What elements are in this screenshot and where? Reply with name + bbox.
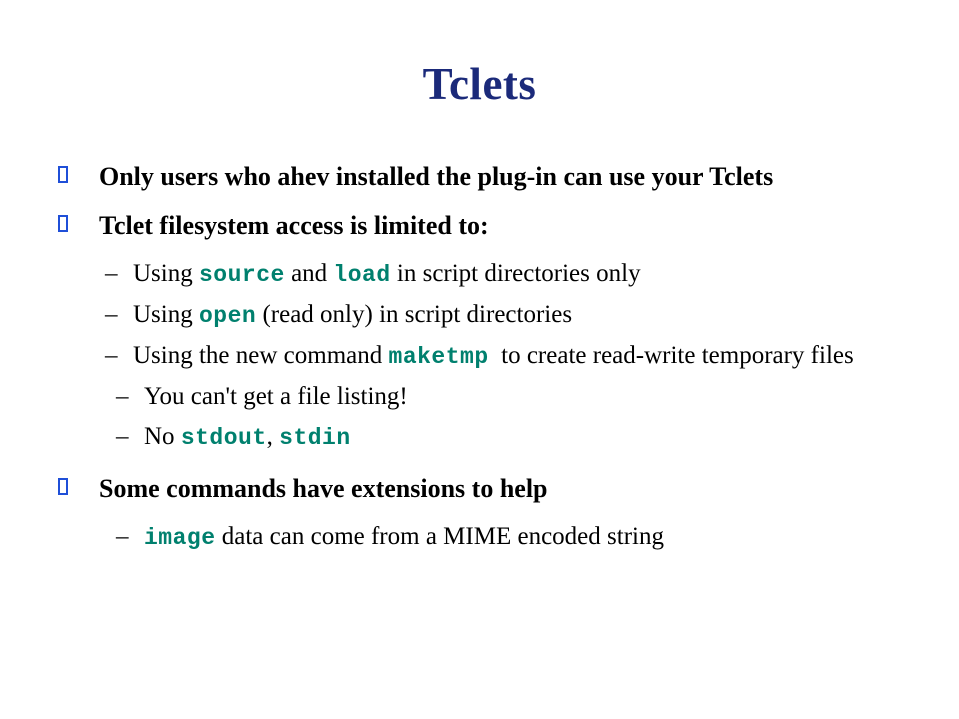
list-item: Tclet filesystem access is limited to: <box>58 207 928 244</box>
dash-icon: – <box>116 419 144 455</box>
text-run: No <box>144 423 181 450</box>
bullet-box-icon <box>58 158 99 188</box>
text-run: in script directories only <box>391 260 641 287</box>
code-token-stdin: stdin <box>279 425 351 451</box>
list-item: – Using open (read only) in script direc… <box>105 297 928 334</box>
code-token-load: load <box>333 262 390 288</box>
code-token-image: image <box>144 525 216 551</box>
list-item: – You can't get a file listing! <box>116 379 928 415</box>
text-run: to create read-write temporary files <box>495 342 854 369</box>
text-run: and <box>285 260 334 287</box>
dash-icon: – <box>105 338 133 374</box>
bullet-text: Some commands have extensions to help <box>99 470 928 507</box>
text-run: data can come from a MIME encoded string <box>216 523 664 550</box>
list-item: Only users who ahev installed the plug-i… <box>58 158 928 195</box>
text-run: , <box>267 423 280 450</box>
dash-icon: – <box>116 379 144 415</box>
bullet-text: Tclet filesystem access is limited to: <box>99 207 928 244</box>
text-run: You can't get a file listing! <box>144 383 408 410</box>
bullet-box-icon <box>58 207 99 237</box>
list-item: – Using source and load in script direct… <box>105 256 928 293</box>
sub-bullet-text: You can't get a file listing! <box>144 379 928 415</box>
code-token-open: open <box>199 303 256 329</box>
sub-bullet-text: Using open (read only) in script directo… <box>133 297 928 334</box>
sub-bullet-text: No stdout, stdin <box>144 419 928 456</box>
list-item: – No stdout, stdin <box>116 419 928 456</box>
list-item: – image data can come from a MIME encode… <box>116 519 928 556</box>
dash-icon: – <box>105 256 133 292</box>
list-item: – Using the new command maketmp to creat… <box>105 338 928 375</box>
slide-canvas: Tclets Only users who ahev installed the… <box>0 0 959 719</box>
dash-icon: – <box>116 519 144 555</box>
code-token-maketmp: maketmp <box>389 344 489 370</box>
list-item: Some commands have extensions to help <box>58 470 928 507</box>
text-run: Using <box>133 260 199 287</box>
text-run: Using <box>133 301 199 328</box>
bullet-text: Only users who ahev installed the plug-i… <box>99 158 894 195</box>
text-run: Using the new command <box>133 342 382 369</box>
text-run: (read only) in script directories <box>256 301 572 328</box>
bullet-box-icon <box>58 470 99 500</box>
slide-body: Only users who ahev installed the plug-i… <box>58 158 928 560</box>
page-title: Tclets <box>0 58 959 110</box>
dash-icon: – <box>105 297 133 333</box>
code-token-source: source <box>199 262 285 288</box>
code-token-stdout: stdout <box>181 425 267 451</box>
sub-bullet-text: image data can come from a MIME encoded … <box>144 519 928 556</box>
sub-bullet-text: Using source and load in script director… <box>133 256 928 293</box>
sub-bullet-text: Using the new command maketmp to create … <box>133 338 928 375</box>
